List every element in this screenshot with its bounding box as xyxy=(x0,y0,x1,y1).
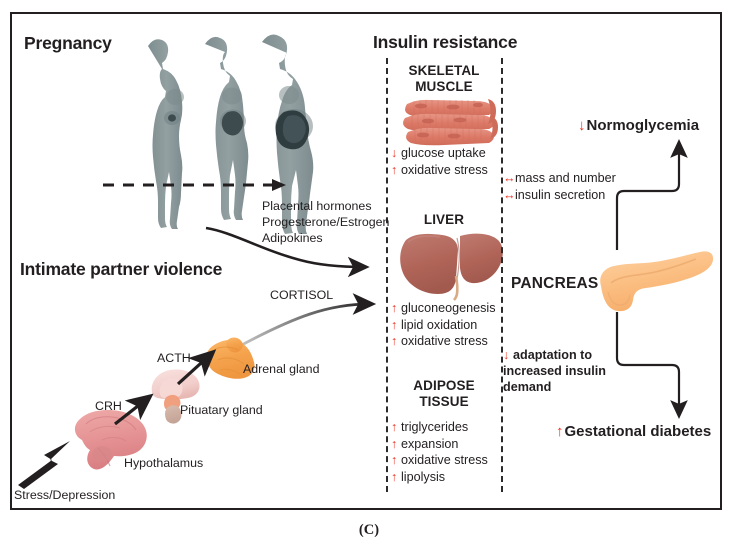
change-item: ↑lipolysis xyxy=(391,469,488,486)
change-label: oxidative stress xyxy=(401,163,488,177)
pancreas-decompensated-label: ↓adaptation to increased insulin demand xyxy=(503,347,606,395)
up-arrow-icon: ↑ xyxy=(391,333,401,350)
change-item: ↑triglycerides xyxy=(391,419,488,436)
adipose-tissue-title-line-1: ADIPOSE xyxy=(394,378,494,394)
acth-label: ACTH xyxy=(157,350,191,366)
divider-left xyxy=(386,58,388,492)
figure-canvas: Pregnancy Insulin resistance Intimate pa… xyxy=(0,0,738,552)
stress-depression-label: Stress/Depression xyxy=(14,487,115,503)
gestational-diabetes-outcome: ↑Gestational diabetes xyxy=(556,423,711,440)
pancreas-compensated-changes: ↔mass and number ↔insulin secretion xyxy=(503,170,616,203)
bidirectional-arrow-icon: ↔ xyxy=(503,170,515,187)
change-item: ↑gluconeogenesis xyxy=(391,300,496,317)
up-arrow-icon: ↑ xyxy=(556,423,564,440)
placental-hormones-line-1: Placental hormones xyxy=(262,198,389,214)
placental-hormones-line-2: Progesterone/Estrogen xyxy=(262,214,389,230)
change-label: expansion xyxy=(401,437,458,451)
normoglycemia-outcome: ↓Normoglycemia xyxy=(578,117,699,134)
pancreas-title: PANCREAS xyxy=(511,275,598,293)
liver-title: LIVER xyxy=(394,212,494,228)
cortisol-label: CORTISOL xyxy=(270,287,333,303)
hypothalamus-label: Hypothalamus xyxy=(124,455,203,471)
change-item: ↔mass and number xyxy=(503,170,616,187)
down-arrow-icon: ↓ xyxy=(503,347,513,363)
up-arrow-icon: ↑ xyxy=(391,317,401,334)
up-arrow-icon: ↑ xyxy=(391,452,401,469)
bidirectional-arrow-icon: ↔ xyxy=(503,187,515,204)
change-item: ↔insulin secretion xyxy=(503,187,616,204)
change-label: insulin secretion xyxy=(515,188,605,202)
change-label: gluconeogenesis xyxy=(401,301,496,315)
liver-title-line-1: LIVER xyxy=(394,212,494,228)
change-label: triglycerides xyxy=(401,420,468,434)
crh-label: CRH xyxy=(95,398,122,414)
decompensation-line-1: ↓adaptation to xyxy=(503,347,606,363)
change-item: ↑oxidative stress xyxy=(391,452,488,469)
pituitary-gland-label: Pituatary gland xyxy=(180,402,263,418)
up-arrow-icon: ↑ xyxy=(391,436,401,453)
change-item: ↑lipid oxidation xyxy=(391,317,496,334)
change-label: glucose uptake xyxy=(401,146,486,160)
change-label: oxidative stress xyxy=(401,453,488,467)
adipose-tissue-title-line-2: TISSUE xyxy=(394,394,494,410)
up-arrow-icon: ↑ xyxy=(391,469,401,486)
down-arrow-icon: ↓ xyxy=(578,117,586,134)
up-arrow-icon: ↑ xyxy=(391,300,401,317)
adipose-tissue-changes: ↑triglycerides ↑expansion ↑oxidative str… xyxy=(391,419,488,485)
change-label: lipid oxidation xyxy=(401,318,477,332)
up-arrow-icon: ↑ xyxy=(391,419,401,436)
figure-caption: (C) xyxy=(0,522,738,539)
change-item: ↑expansion xyxy=(391,436,488,453)
adipose-tissue-title: ADIPOSE TISSUE xyxy=(394,378,494,410)
gestational-diabetes-label: Gestational diabetes xyxy=(565,423,712,440)
skeletal-muscle-title-line-1: SKELETAL xyxy=(394,63,494,79)
placental-hormones-line-3: Adipokines xyxy=(262,230,389,246)
down-arrow-icon: ↓ xyxy=(391,145,401,162)
normoglycemia-label: Normoglycemia xyxy=(587,117,700,134)
change-label: mass and number xyxy=(515,171,616,185)
change-item: ↑oxidative stress xyxy=(391,162,488,179)
pregnancy-title: Pregnancy xyxy=(24,33,112,54)
figure-caption-text: (C) xyxy=(359,522,379,538)
adrenal-gland-label: Adrenal gland xyxy=(243,361,319,377)
liver-changes: ↑gluconeogenesis ↑lipid oxidation ↑oxida… xyxy=(391,300,496,350)
ipv-title: Intimate partner violence xyxy=(20,259,222,280)
decompensation-text-1: adaptation to xyxy=(513,348,592,362)
change-label: oxidative stress xyxy=(401,334,488,348)
divider-right xyxy=(501,58,503,492)
placental-hormones-label: Placental hormones Progesterone/Estrogen… xyxy=(262,198,389,246)
skeletal-muscle-title-line-2: MUSCLE xyxy=(394,79,494,95)
change-label: lipolysis xyxy=(401,470,445,484)
skeletal-muscle-changes: ↓glucose uptake ↑oxidative stress xyxy=(391,145,488,178)
up-arrow-icon: ↑ xyxy=(391,162,401,179)
decompensation-text-3: demand xyxy=(503,379,606,395)
change-item: ↓glucose uptake xyxy=(391,145,488,162)
change-item: ↑oxidative stress xyxy=(391,333,496,350)
decompensation-text-2: increased insulin xyxy=(503,363,606,379)
insulin-resistance-title: Insulin resistance xyxy=(373,32,517,53)
skeletal-muscle-title: SKELETAL MUSCLE xyxy=(394,63,494,95)
